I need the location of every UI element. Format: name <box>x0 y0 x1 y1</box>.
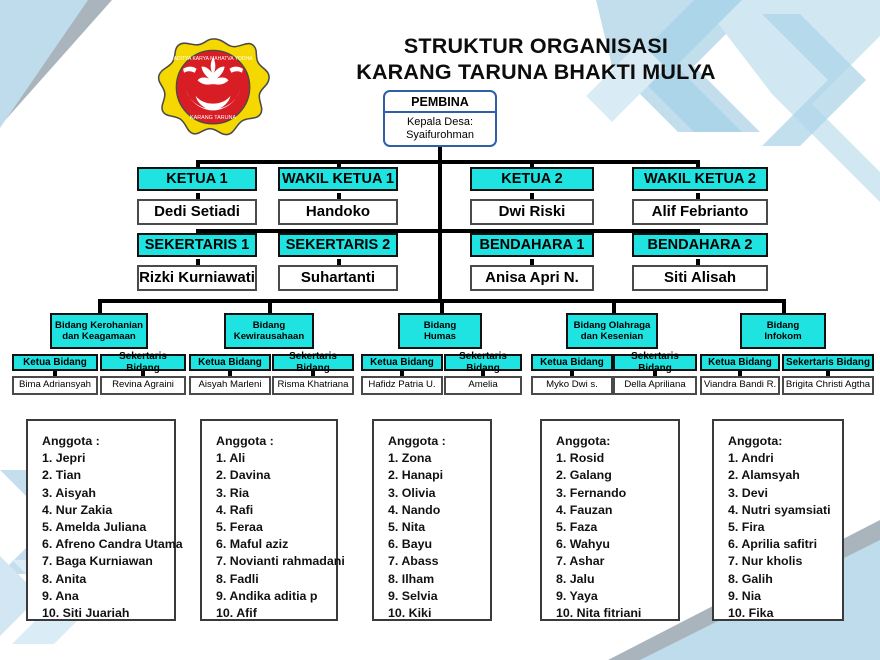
connector-drop-division-4 <box>612 299 616 314</box>
division-ketua-name-1[interactable]: Bima Adriansyah <box>12 376 98 395</box>
division-name-line2: Humas <box>424 331 456 343</box>
list-item: 6. Wahyu <box>556 536 678 553</box>
list-item: 1. Andri <box>728 450 842 467</box>
officer-name-3[interactable]: Dwi Riski <box>470 199 594 225</box>
officer-title-6[interactable]: SEKERTARIS 2 <box>278 233 398 257</box>
list-item: 9. Ana <box>42 588 174 605</box>
division-header-1[interactable]: Bidang Kerohaniandan Keagamaan <box>50 313 148 349</box>
anggota-panel-3: Anggota :1. Zona2. Hanapi3. Olivia4. Nan… <box>372 419 492 621</box>
division-sekertaris-label-5[interactable]: Sekertaris Bidang <box>782 354 874 371</box>
title-line-2: KARANG TARUNA BHAKTI MULYA <box>276 59 796 85</box>
officer-name-5[interactable]: Rizki Kurniawati <box>137 265 257 291</box>
officer-title-8[interactable]: BENDAHARA 2 <box>632 233 768 257</box>
division-name-line2: Kewirausahaan <box>234 331 304 343</box>
division-header-3[interactable]: BidangHumas <box>398 313 482 349</box>
list-item: 9. Andika aditia p <box>216 588 336 605</box>
division-ketua-label-2[interactable]: Ketua Bidang <box>189 354 271 371</box>
list-item: 3. Olivia <box>388 485 490 502</box>
list-item: 10. Siti Juariah <box>42 605 174 622</box>
list-item: 8. Jalu <box>556 571 678 588</box>
list-item: 2. Hanapi <box>388 467 490 484</box>
list-item: 9. Selvia <box>388 588 490 605</box>
officer-title-3[interactable]: KETUA 2 <box>470 167 594 191</box>
division-ketua-name-4[interactable]: Myko Dwi s. <box>531 376 613 395</box>
svg-text:KARANG TARUNA: KARANG TARUNA <box>190 115 236 121</box>
anggota-label-2: Anggota : <box>216 433 336 450</box>
list-item: 1. Ali <box>216 450 336 467</box>
division-ketua-label-5[interactable]: Ketua Bidang <box>700 354 780 371</box>
anggota-label-1: Anggota : <box>42 433 174 450</box>
pembina-position: Kepala Desa: <box>407 116 473 129</box>
division-header-2[interactable]: BidangKewirausahaan <box>224 313 314 349</box>
division-sekertaris-name-2[interactable]: Risma Khatriana <box>272 376 354 395</box>
division-name-line1: Bidang <box>767 320 800 332</box>
list-item: 6. Bayu <box>388 536 490 553</box>
division-name-line2: Infokom <box>764 331 801 343</box>
karang-taruna-logo-icon: ADITYA KARYA MAHATVA YODHA KARANG TARUNA <box>155 36 273 148</box>
officer-name-8[interactable]: Siti Alisah <box>632 265 768 291</box>
division-sekertaris-name-4[interactable]: Della Apriliana <box>613 376 697 395</box>
officer-title-2[interactable]: WAKIL KETUA 1 <box>278 167 398 191</box>
division-ketua-name-5[interactable]: Viandra Bandi R. <box>700 376 780 395</box>
connector-drop-division-3 <box>440 299 444 314</box>
officer-name-4[interactable]: Alif Febrianto <box>632 199 768 225</box>
list-item: 7. Novianti rahmadani <box>216 553 336 570</box>
list-item: 4. Fauzan <box>556 502 678 519</box>
pembina-name: Syaifurohman <box>406 129 474 142</box>
list-item: 6. Afreno Candra Utama <box>42 536 174 553</box>
list-item: 4. Nur Zakia <box>42 502 174 519</box>
list-item: 3. Devi <box>728 485 842 502</box>
list-item: 1. Zona <box>388 450 490 467</box>
division-header-4[interactable]: Bidang Olahragadan Kesenian <box>566 313 658 349</box>
division-name-line1: Bidang <box>424 320 457 332</box>
division-sekertaris-name-1[interactable]: Revina Agraini <box>100 376 186 395</box>
anggota-list-3: 1. Zona2. Hanapi3. Olivia4. Nando5. Nita… <box>388 450 490 622</box>
division-ketua-name-3[interactable]: Hafidz Patria U. <box>361 376 443 395</box>
connector-bus-row2 <box>196 229 700 233</box>
list-item: 10. Nita fitriani <box>556 605 678 622</box>
list-item: 7. Abass <box>388 553 490 570</box>
division-header-5[interactable]: BidangInfokom <box>740 313 826 349</box>
officer-name-2[interactable]: Handoko <box>278 199 398 225</box>
division-ketua-label-1[interactable]: Ketua Bidang <box>12 354 98 371</box>
list-item: 9. Nia <box>728 588 842 605</box>
anggota-panel-2: Anggota :1. Ali2. Davina3. Ria4. Rafi5. … <box>200 419 338 621</box>
list-item: 8. Anita <box>42 571 174 588</box>
division-sekertaris-label-3[interactable]: Sekertaris Bidang <box>444 354 522 371</box>
division-sekertaris-name-3[interactable]: Amelia <box>444 376 522 395</box>
officer-title-4[interactable]: WAKIL KETUA 2 <box>632 167 768 191</box>
officer-title-7[interactable]: BENDAHARA 1 <box>470 233 594 257</box>
list-item: 4. Nutri syamsiati <box>728 502 842 519</box>
list-item: 3. Aisyah <box>42 485 174 502</box>
list-item: 9. Yaya <box>556 588 678 605</box>
pembina-detail: Kepala Desa: Syaifurohman <box>385 113 495 145</box>
division-name-line2: dan Kesenian <box>581 331 643 343</box>
division-name-line1: Bidang Olahraga <box>574 320 651 332</box>
list-item: 7. Nur kholis <box>728 553 842 570</box>
division-sekertaris-label-4[interactable]: Sekertaris Bidang <box>613 354 697 371</box>
anggota-list-4: 1. Rosid2. Galang3. Fernando4. Fauzan5. … <box>556 450 678 622</box>
connector-drop-division-5 <box>782 299 786 314</box>
list-item: 10. Fika <box>728 605 842 622</box>
list-item: 7. Baga Kurniawan <box>42 553 174 570</box>
list-item: 4. Nando <box>388 502 490 519</box>
list-item: 2. Davina <box>216 467 336 484</box>
list-item: 3. Ria <box>216 485 336 502</box>
connector-drop-division-2 <box>268 299 272 314</box>
connector-drop-division-1 <box>98 299 102 314</box>
list-item: 1. Jepri <box>42 450 174 467</box>
division-ketua-label-3[interactable]: Ketua Bidang <box>361 354 443 371</box>
officer-name-7[interactable]: Anisa Apri N. <box>470 265 594 291</box>
officer-name-1[interactable]: Dedi Setiadi <box>137 199 257 225</box>
list-item: 10. Afif <box>216 605 336 622</box>
list-item: 5. Nita <box>388 519 490 536</box>
list-item: 5. Amelda Juliana <box>42 519 174 536</box>
pembina-role: PEMBINA <box>385 92 495 113</box>
org-chart-canvas: ADITYA KARYA MAHATVA YODHA KARANG TARUNA… <box>0 0 880 660</box>
anggota-panel-1: Anggota :1. Jepri2. Tian3. Aisyah4. Nur … <box>26 419 176 621</box>
connector-trunk-vertical <box>438 147 442 299</box>
division-name-line1: Bidang <box>253 320 286 332</box>
list-item: 7. Ashar <box>556 553 678 570</box>
pembina-box[interactable]: PEMBINA Kepala Desa: Syaifurohman <box>383 90 497 147</box>
anggota-list-1: 1. Jepri2. Tian3. Aisyah4. Nur Zakia5. A… <box>42 450 174 622</box>
anggota-label-4: Anggota: <box>556 433 678 450</box>
division-sekertaris-name-5[interactable]: Brigita Christi Agtha <box>782 376 874 395</box>
list-item: 3. Fernando <box>556 485 678 502</box>
list-item: 10. Kiki <box>388 605 490 622</box>
list-item: 2. Tian <box>42 467 174 484</box>
division-name-line2: dan Keagamaan <box>62 331 136 343</box>
list-item: 2. Alamsyah <box>728 467 842 484</box>
svg-text:ADITYA KARYA MAHATVA YODHA: ADITYA KARYA MAHATVA YODHA <box>174 56 254 62</box>
title-line-1: STRUKTUR ORGANISASI <box>276 33 796 59</box>
anggota-panel-5: Anggota:1. Andri2. Alamsyah3. Devi4. Nut… <box>712 419 844 621</box>
division-sekertaris-label-1[interactable]: Sekertaris Bidang <box>100 354 186 371</box>
list-item: 5. Fira <box>728 519 842 536</box>
division-name-line1: Bidang Kerohanian <box>55 320 143 332</box>
list-item: 5. Feraa <box>216 519 336 536</box>
division-ketua-label-4[interactable]: Ketua Bidang <box>531 354 613 371</box>
page-title: STRUKTUR ORGANISASI KARANG TARUNA BHAKTI… <box>276 33 796 85</box>
officer-title-5[interactable]: SEKERTARIS 1 <box>137 233 257 257</box>
list-item: 5. Faza <box>556 519 678 536</box>
anggota-label-3: Anggota : <box>388 433 490 450</box>
list-item: 6. Maful aziz <box>216 536 336 553</box>
list-item: 1. Rosid <box>556 450 678 467</box>
anggota-label-5: Anggota: <box>728 433 842 450</box>
division-sekertaris-label-2[interactable]: Sekertaris Bidang <box>272 354 354 371</box>
list-item: 2. Galang <box>556 467 678 484</box>
anggota-list-5: 1. Andri2. Alamsyah3. Devi4. Nutri syams… <box>728 450 842 622</box>
list-item: 4. Rafi <box>216 502 336 519</box>
officer-name-6[interactable]: Suhartanti <box>278 265 398 291</box>
officer-title-1[interactable]: KETUA 1 <box>137 167 257 191</box>
list-item: 6. Aprilia safitri <box>728 536 842 553</box>
list-item: 8. Ilham <box>388 571 490 588</box>
anggota-panel-4: Anggota:1. Rosid2. Galang3. Fernando4. F… <box>540 419 680 621</box>
division-ketua-name-2[interactable]: Aisyah Marleni <box>189 376 271 395</box>
list-item: 8. Galih <box>728 571 842 588</box>
list-item: 8. Fadli <box>216 571 336 588</box>
anggota-list-2: 1. Ali2. Davina3. Ria4. Rafi5. Feraa6. M… <box>216 450 336 622</box>
connector-bus-row1 <box>196 160 700 164</box>
